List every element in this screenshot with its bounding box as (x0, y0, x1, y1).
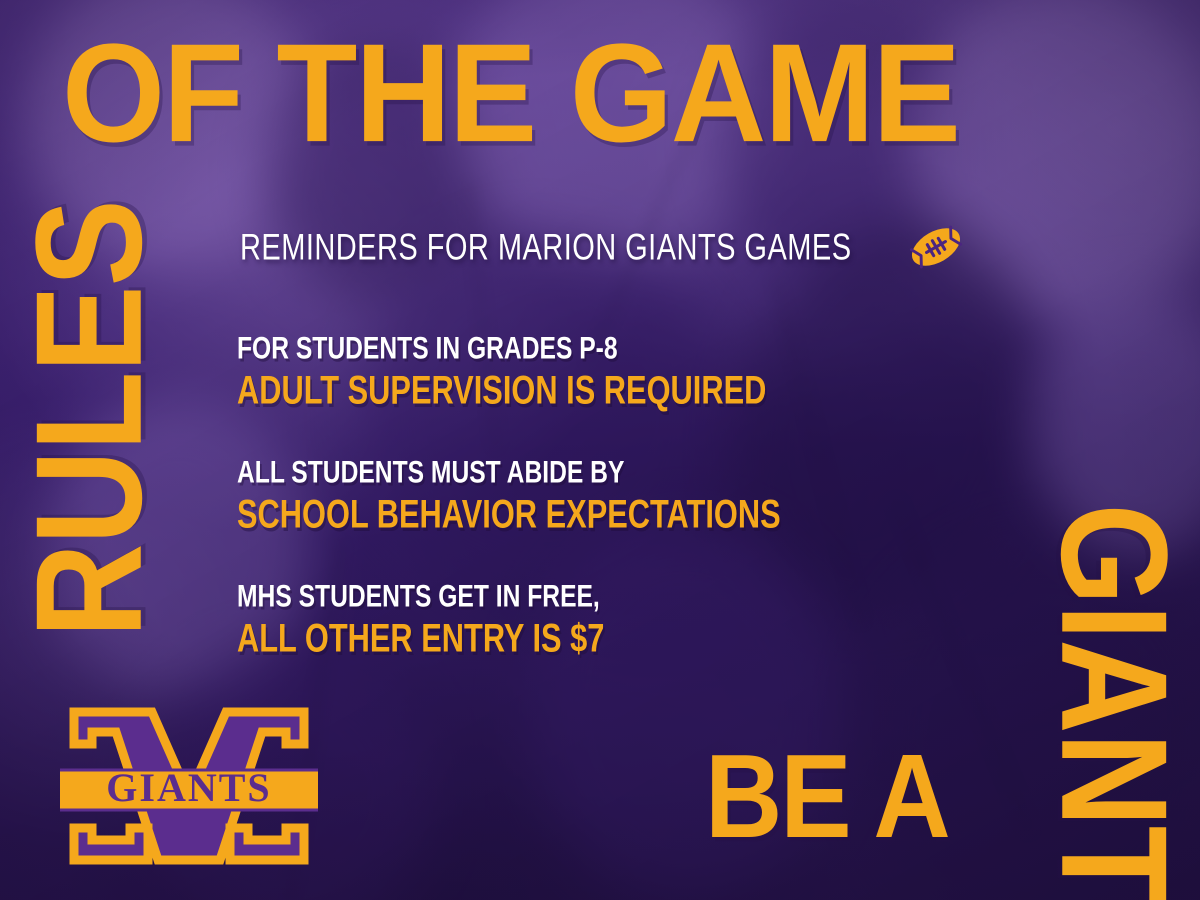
page-title: OF THE GAME (62, 28, 959, 160)
rule-bottom-line: ALL OTHER ENTRY IS $7 (237, 616, 781, 662)
logo-artwork: GIANTS (60, 700, 318, 872)
logo-banner-text: GIANTS (106, 765, 271, 810)
subtitle-row: REMINDERS FOR MARION GIANTS GAMES (240, 218, 965, 276)
rules-list: FOR STUDENTS IN GRADES P-8 ADULT SUPERVI… (237, 332, 855, 659)
rule-top-line: FOR STUDENTS IN GRADES P-8 (237, 330, 781, 366)
rule-item: MHS STUDENTS GET IN FREE, ALL OTHER ENTR… (237, 580, 855, 659)
rule-bottom-line: SCHOOL BEHAVIOR EXPECTATIONS (237, 492, 781, 538)
poster: OF THE GAME RULES GIANT REMINDERS FOR MA… (0, 0, 1200, 900)
marion-giants-logo: GIANTS (60, 700, 318, 872)
vertical-title-rules: RULES (14, 133, 165, 704)
rule-top-line: MHS STUDENTS GET IN FREE, (237, 578, 781, 614)
callout-be-a: BE A (705, 738, 949, 857)
vertical-title-giant: GIANT (1037, 418, 1188, 900)
rule-item: FOR STUDENTS IN GRADES P-8 ADULT SUPERVI… (237, 332, 855, 411)
rule-item: ALL STUDENTS MUST ABIDE BY SCHOOL BEHAVI… (237, 456, 855, 535)
football-icon (907, 218, 965, 276)
subtitle: REMINDERS FOR MARION GIANTS GAMES (240, 226, 852, 269)
rule-top-line: ALL STUDENTS MUST ABIDE BY (237, 454, 781, 490)
rule-bottom-line: ADULT SUPERVISION IS REQUIRED (237, 368, 781, 414)
